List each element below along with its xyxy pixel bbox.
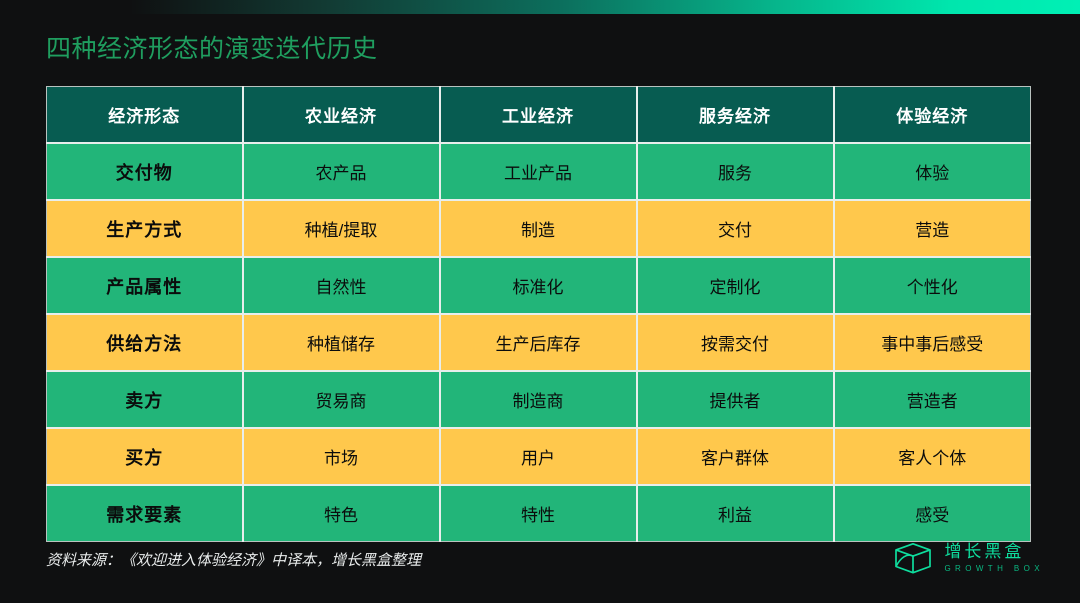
cell: 特性	[440, 485, 637, 542]
column-header-4: 体验经济	[834, 87, 1031, 144]
brand-text: 增长黑盒 GROWTH BOX	[944, 543, 1044, 573]
cell: 定制化	[637, 257, 834, 314]
row-label: 交付物	[47, 143, 243, 200]
cell: 特色	[243, 485, 440, 542]
brand-name-cn: 增长黑盒	[944, 543, 1044, 560]
cell: 制造商	[440, 371, 637, 428]
cell: 种植储存	[243, 314, 440, 371]
cell: 自然性	[243, 257, 440, 314]
cell: 营造者	[834, 371, 1031, 428]
cell: 用户	[440, 428, 637, 485]
cell: 生产后库存	[440, 314, 637, 371]
cell: 感受	[834, 485, 1031, 542]
page-title: 四种经济形态的演变迭代历史	[46, 32, 378, 66]
cell: 个性化	[834, 257, 1031, 314]
cell: 种植/提取	[243, 200, 440, 257]
cell: 客户群体	[637, 428, 834, 485]
cell: 交付	[637, 200, 834, 257]
brand-logo: 增长黑盒 GROWTH BOX	[892, 541, 1044, 575]
row-label: 产品属性	[47, 257, 243, 314]
table-header-row: 经济形态 农业经济 工业经济 服务经济 体验经济	[47, 87, 1031, 144]
table-row: 供给方法 种植储存 生产后库存 按需交付 事中事后感受	[47, 314, 1031, 371]
table-row: 产品属性 自然性 标准化 定制化 个性化	[47, 257, 1031, 314]
column-header-2: 工业经济	[440, 87, 637, 144]
cell: 按需交付	[637, 314, 834, 371]
cell: 标准化	[440, 257, 637, 314]
row-label: 买方	[47, 428, 243, 485]
table-row: 生产方式 种植/提取 制造 交付 营造	[47, 200, 1031, 257]
cell: 体验	[834, 143, 1031, 200]
cell: 贸易商	[243, 371, 440, 428]
row-label: 供给方法	[47, 314, 243, 371]
box-logo-icon	[892, 541, 934, 575]
cell: 事中事后感受	[834, 314, 1031, 371]
source-note: 资料来源：《欢迎进入体验经济》中译本，增长黑盒整理	[46, 549, 421, 570]
column-header-1: 农业经济	[243, 87, 440, 144]
row-label: 需求要素	[47, 485, 243, 542]
cell: 市场	[243, 428, 440, 485]
cell: 提供者	[637, 371, 834, 428]
cell: 制造	[440, 200, 637, 257]
cell: 客人个体	[834, 428, 1031, 485]
cell: 营造	[834, 200, 1031, 257]
cell: 农产品	[243, 143, 440, 200]
table-row: 卖方 贸易商 制造商 提供者 营造者	[47, 371, 1031, 428]
top-accent-bar	[0, 0, 1080, 14]
table-row: 需求要素 特色 特性 利益 感受	[47, 485, 1031, 542]
column-header-3: 服务经济	[637, 87, 834, 144]
brand-name-en: GROWTH BOX	[944, 565, 1044, 573]
table-row: 交付物 农产品 工业产品 服务 体验	[47, 143, 1031, 200]
slide-canvas: 四种经济形态的演变迭代历史 经济形态 农业经济 工业经济 服务经济 体验经济 交…	[0, 0, 1080, 603]
table-row: 买方 市场 用户 客户群体 客人个体	[47, 428, 1031, 485]
cell: 服务	[637, 143, 834, 200]
row-label: 卖方	[47, 371, 243, 428]
economy-matrix-table: 经济形态 农业经济 工业经济 服务经济 体验经济 交付物 农产品 工业产品 服务…	[46, 86, 1030, 542]
column-header-0: 经济形态	[47, 87, 243, 144]
cell: 工业产品	[440, 143, 637, 200]
cell: 利益	[637, 485, 834, 542]
row-label: 生产方式	[47, 200, 243, 257]
